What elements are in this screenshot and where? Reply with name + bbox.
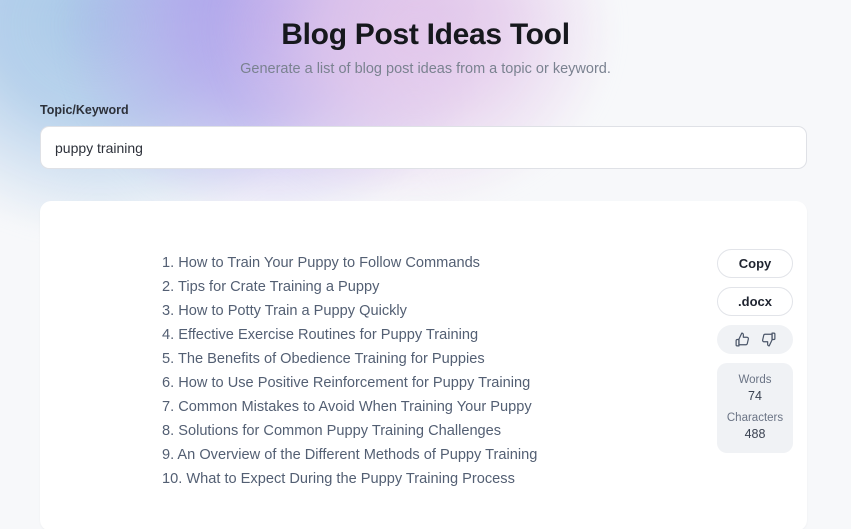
list-item: 8. Solutions for Common Puppy Training C…: [162, 419, 642, 443]
download-docx-button[interactable]: .docx: [717, 287, 793, 316]
list-item: 1. How to Train Your Puppy to Follow Com…: [162, 251, 642, 275]
words-label: Words: [721, 372, 789, 388]
topic-field-label: Topic/Keyword: [40, 103, 807, 117]
blog-ideas-list: 1. How to Train Your Puppy to Follow Com…: [162, 251, 642, 491]
page-root: Blog Post Ideas Tool Generate a list of …: [0, 0, 851, 529]
word-count-stats: Words 74 Characters 488: [717, 363, 793, 453]
list-item: 2. Tips for Crate Training a Puppy: [162, 275, 642, 299]
feedback-controls: [717, 325, 793, 354]
characters-value: 488: [721, 426, 789, 443]
copy-button[interactable]: Copy: [717, 249, 793, 278]
list-item: 7. Common Mistakes to Avoid When Trainin…: [162, 395, 642, 419]
topic-form: Topic/Keyword: [40, 103, 807, 169]
page-header: Blog Post Ideas Tool Generate a list of …: [0, 0, 851, 77]
list-item: 10. What to Expect During the Puppy Trai…: [162, 467, 642, 491]
topic-keyword-input[interactable]: [40, 126, 807, 169]
results-card: 1. How to Train Your Puppy to Follow Com…: [40, 201, 807, 529]
list-item: 4. Effective Exercise Routines for Puppy…: [162, 323, 642, 347]
list-item: 5. The Benefits of Obedience Training fo…: [162, 347, 642, 371]
characters-label: Characters: [721, 410, 789, 426]
page-subtitle: Generate a list of blog post ideas from …: [0, 61, 851, 77]
thumbs-up-icon[interactable]: [734, 331, 751, 348]
result-action-rail: Copy .docx Words 74: [717, 249, 793, 453]
words-value: 74: [721, 388, 789, 405]
page-title: Blog Post Ideas Tool: [0, 18, 851, 52]
list-item: 3. How to Potty Train a Puppy Quickly: [162, 299, 642, 323]
list-item: 9. An Overview of the Different Methods …: [162, 443, 642, 467]
thumbs-down-icon[interactable]: [760, 331, 777, 348]
list-item: 6. How to Use Positive Reinforcement for…: [162, 371, 642, 395]
